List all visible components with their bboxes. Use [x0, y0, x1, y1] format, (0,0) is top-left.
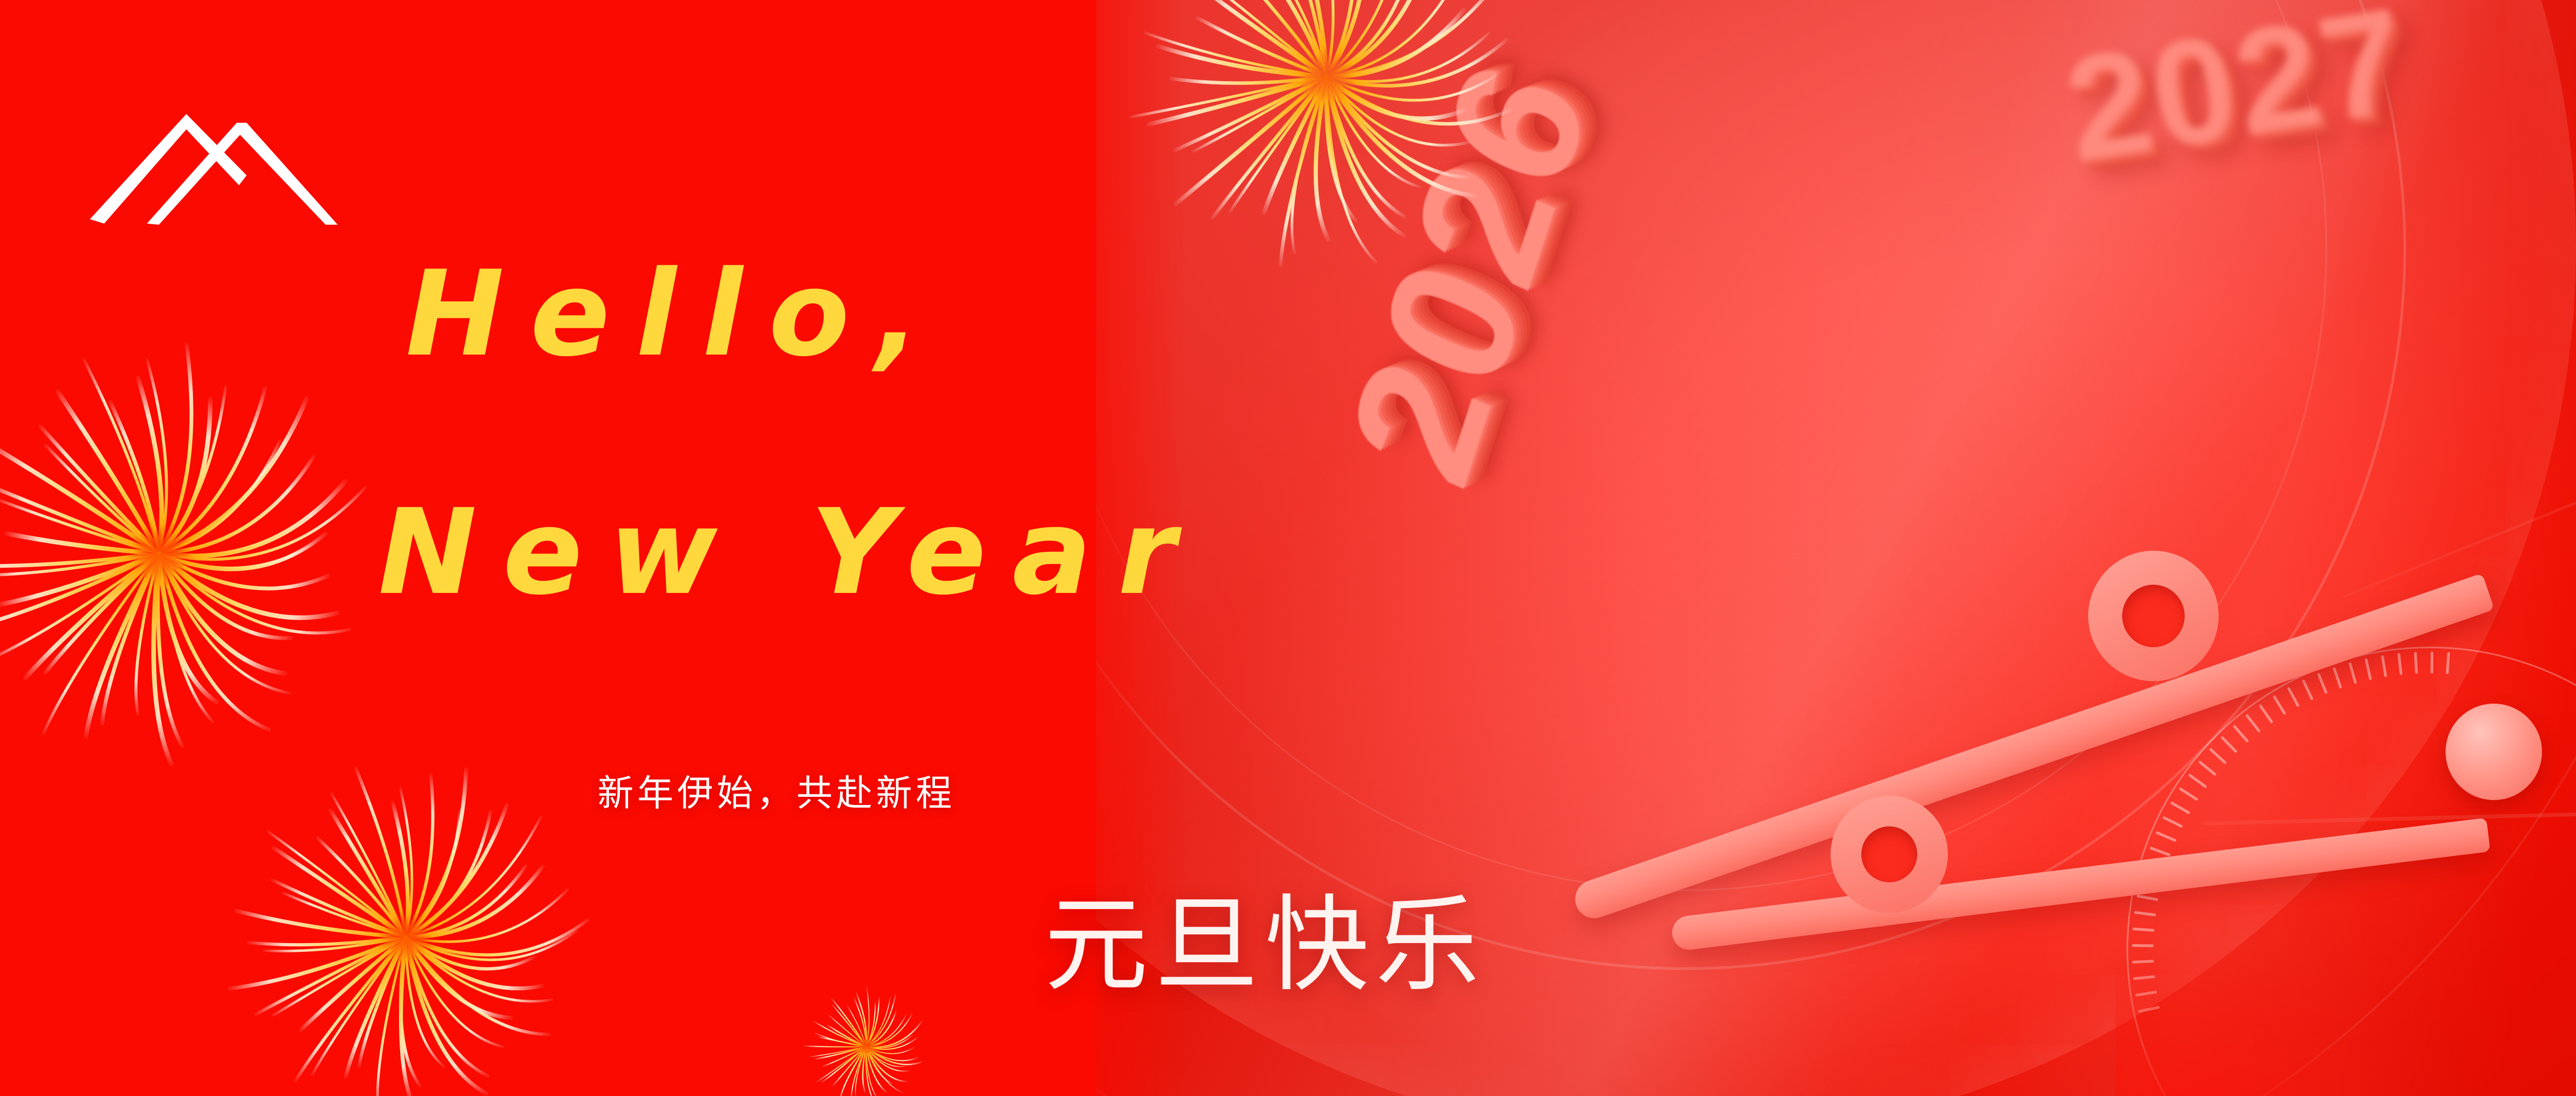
greeting-text: 元旦快乐 [1044, 893, 1486, 997]
clock-center-pin [2446, 704, 2542, 800]
mountain-peaks-logo [82, 88, 422, 225]
subtitle-text: 新年伊始，共赴新程 [597, 775, 955, 812]
headline-line-1: Hello, [406, 255, 946, 373]
new-year-banner: 2027 2026 Hello, New Year 新年伊始，共赴新程 元旦快乐 [0, 0, 2576, 1096]
headline-line-2: New Year [378, 493, 1202, 611]
